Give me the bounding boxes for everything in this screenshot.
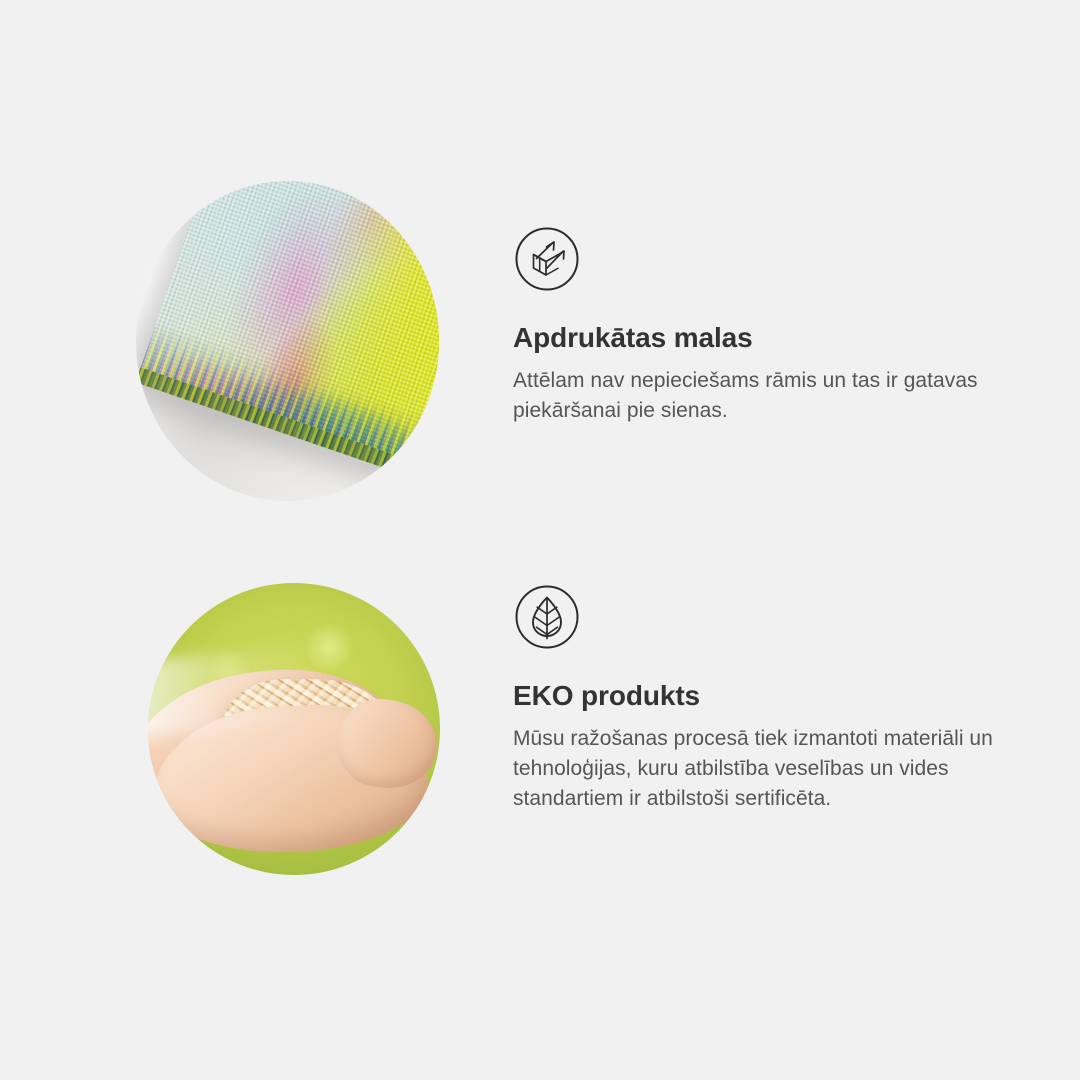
feature-description: Mūsu ražošanas procesā tiek izmantoti ma…: [513, 724, 1018, 814]
feature-description: Attēlam nav nepieciešams rāmis un tas ir…: [513, 366, 1013, 426]
leaf-icon: [513, 583, 581, 651]
canvas-corner-photo: [136, 181, 439, 501]
feature-panel: Apdrukātas malas Attēlam nav nepieciešam…: [0, 0, 1080, 1080]
eco-photo-background: [148, 583, 440, 875]
canvas-panel: [136, 181, 439, 490]
printed-edges-text-column: Apdrukātas malas Attēlam nav nepieciešam…: [513, 225, 1033, 426]
eco-text-column: EKO produkts Mūsu ražošanas procesā tiek…: [513, 583, 1033, 814]
feature-title: EKO produkts: [513, 679, 1033, 713]
wood-chips-hands-photo: [148, 583, 440, 875]
feature-printed-edges: Apdrukātas malas Attēlam nav nepieciešam…: [0, 150, 1080, 520]
feature-eco: EKO produkts Mūsu ražošanas procesā tiek…: [0, 560, 1080, 900]
feature-title: Apdrukātas malas: [513, 321, 1033, 355]
printed-edges-icon: [513, 225, 581, 293]
canvas-photo-background: [136, 181, 439, 501]
